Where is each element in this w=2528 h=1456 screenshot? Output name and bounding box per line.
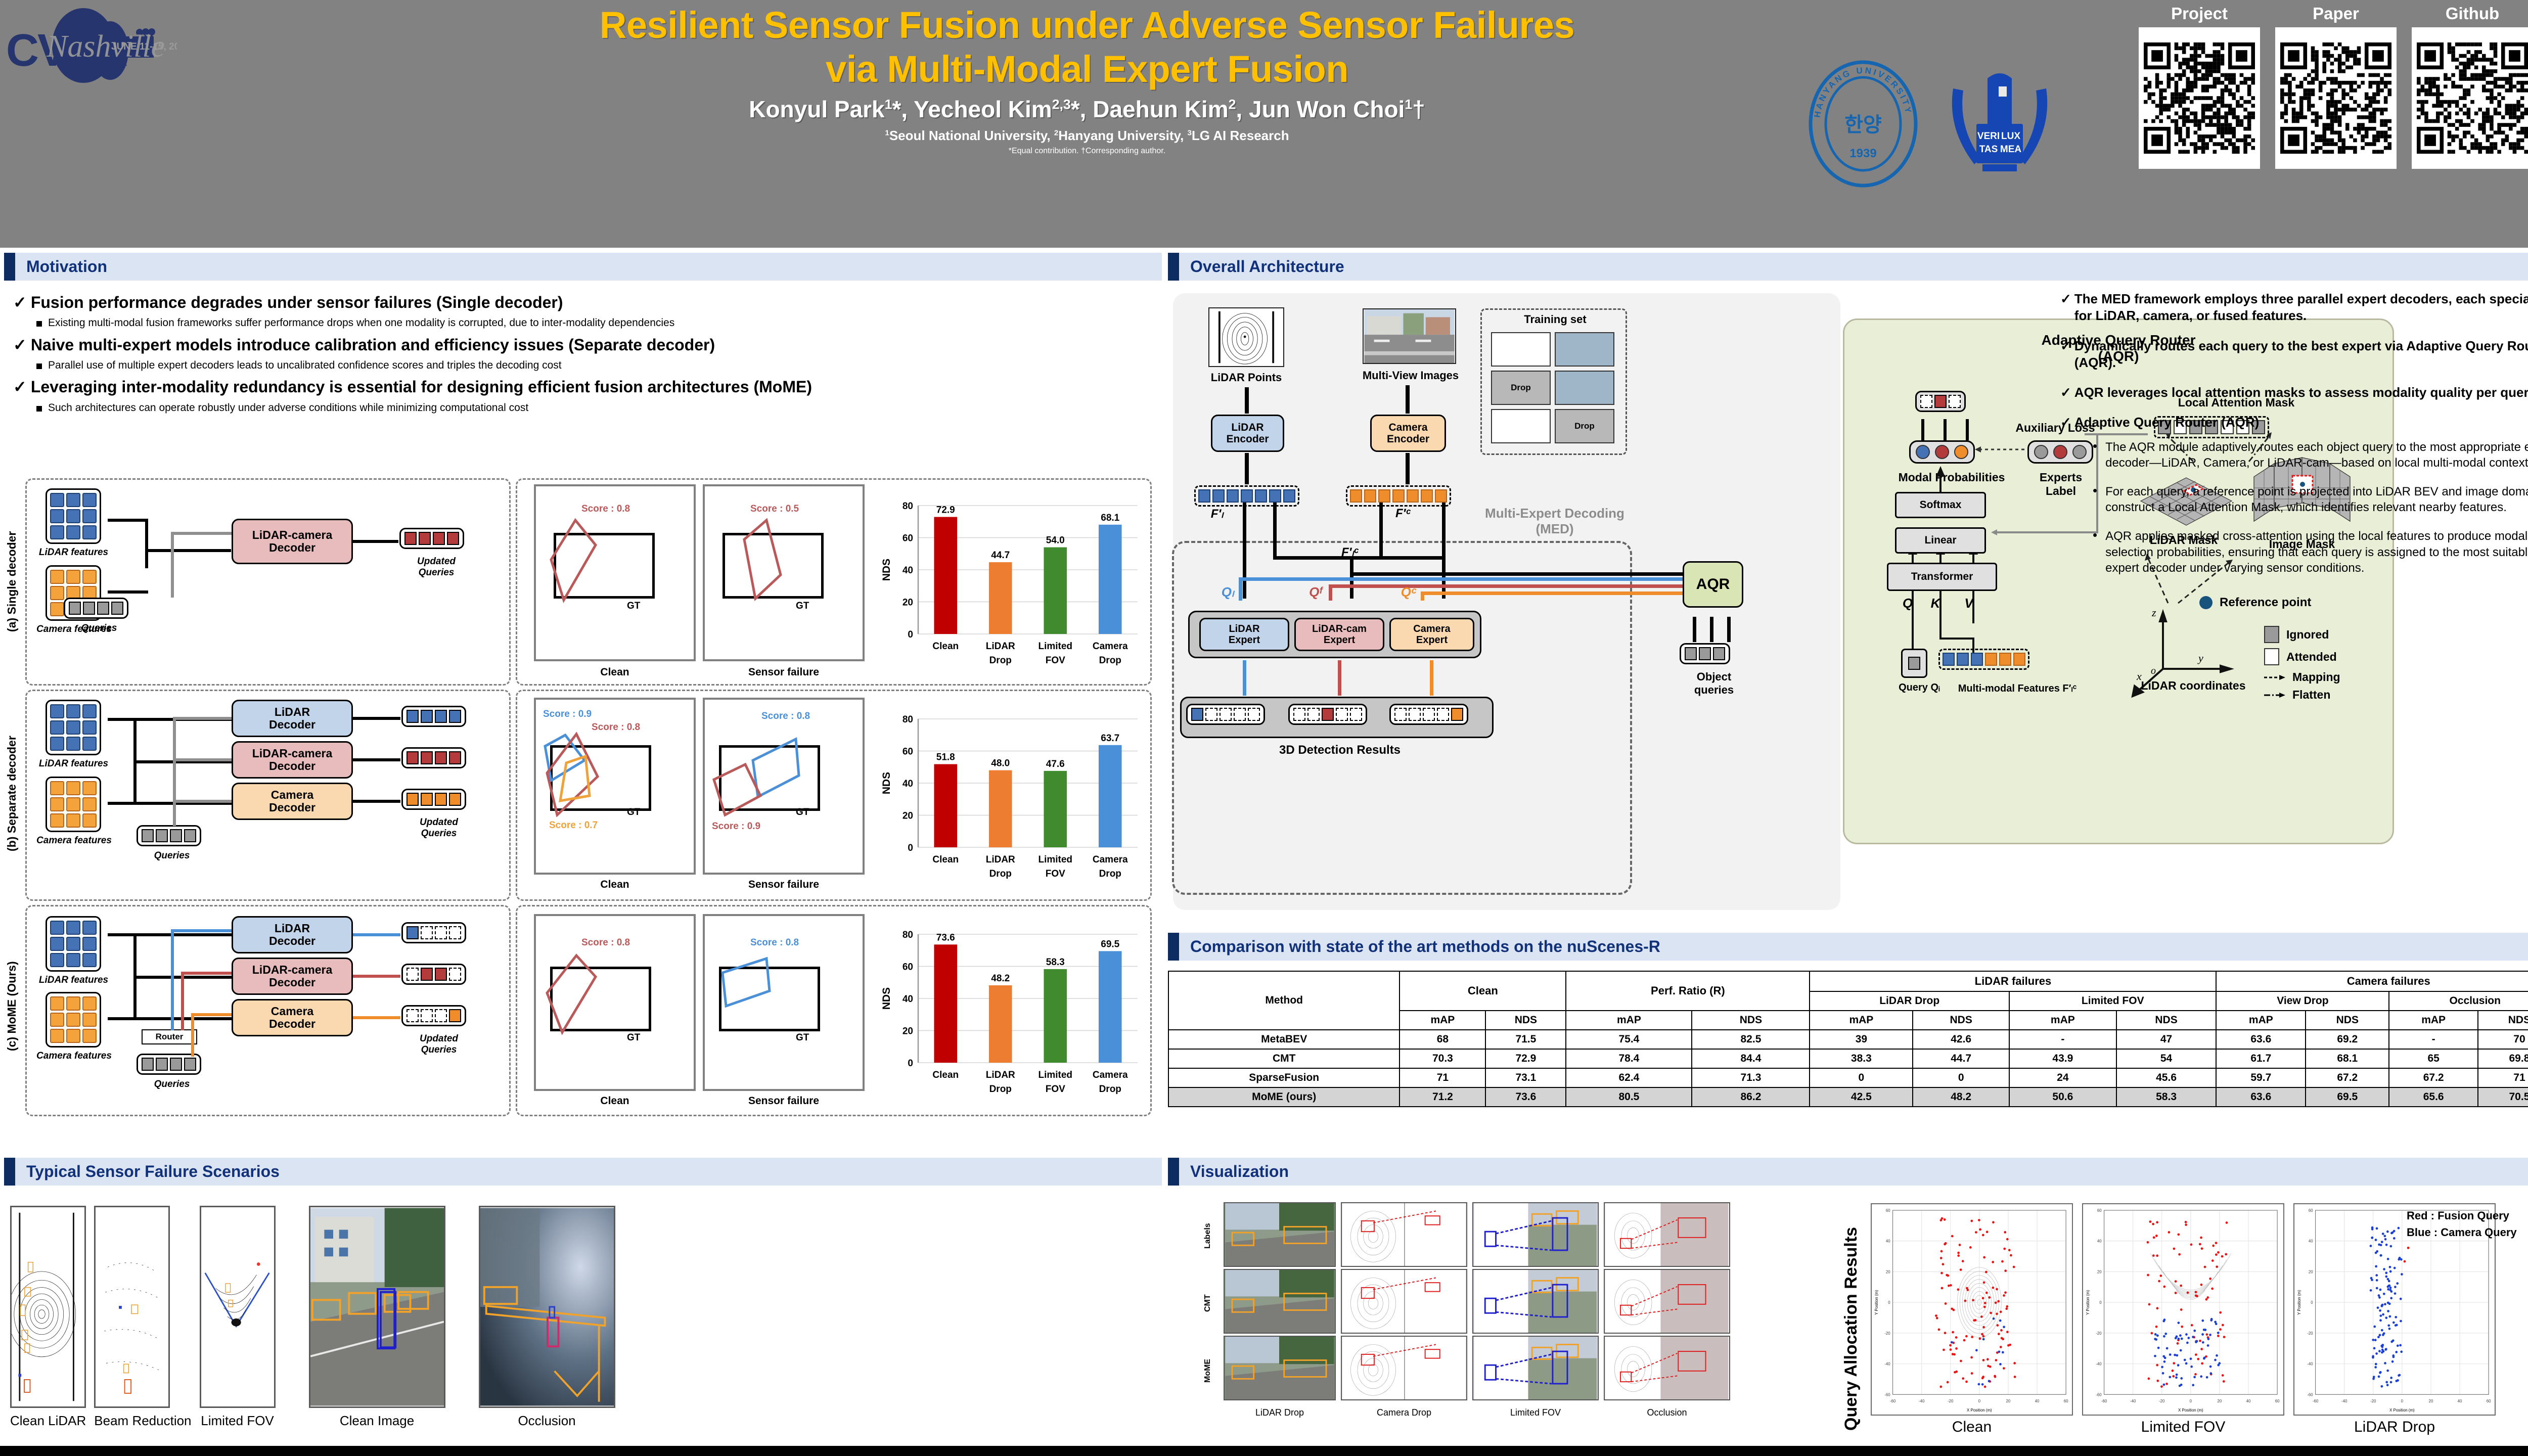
- svg-text:FOV: FOV: [1046, 869, 1065, 879]
- cell-value: 48.2: [1913, 1087, 2009, 1107]
- cell-value: 0: [1810, 1068, 1913, 1087]
- svg-text:JUNE 11-15, 2025: JUNE 11-15, 2025: [111, 41, 177, 52]
- svg-text:20: 20: [902, 598, 913, 608]
- motivation-item-sub: Parallel use of multiple expert decoders…: [36, 359, 1162, 372]
- th-lidar-failures: LiDAR failures: [1810, 971, 2216, 991]
- bar-chart-single-decoder: 02040608072.9Clean44.7LiDARDrop54.0Limit…: [879, 488, 1142, 680]
- cell-value: 63.6: [2216, 1030, 2306, 1049]
- th-occlusion: Occlusion: [2389, 991, 2528, 1011]
- object-query-cube: [1685, 647, 1697, 660]
- feature-token: [1364, 489, 1376, 503]
- check-icon: ✓: [13, 293, 27, 312]
- qr-item-paper[interactable]: Paper: [2275, 4, 2397, 169]
- predicted-box-polygons: [536, 700, 698, 877]
- qr-code-group: Project Paper Github: [2139, 4, 2528, 169]
- probability-dot-lidar: [1916, 445, 1930, 459]
- query-cube: [97, 602, 109, 615]
- motivation-sub-text: Parallel use of multiple expert decoders…: [48, 359, 562, 372]
- motivation-item-sub: Existing multi-modal fusion frameworks s…: [36, 316, 1162, 330]
- svg-text:Y Position (m): Y Position (m): [1874, 1290, 1879, 1315]
- svg-text:-60: -60: [2307, 1392, 2313, 1397]
- cell-value: 45.6: [2116, 1068, 2217, 1087]
- svg-text:20: 20: [2006, 1399, 2011, 1403]
- svg-text:60: 60: [2487, 1399, 2491, 1403]
- svg-text:o: o: [2151, 665, 2156, 676]
- motivation-item-heading: ✓ Fusion performance degrades under sens…: [13, 293, 1162, 312]
- updated-query-cube: [435, 710, 447, 723]
- th-metric: NDS: [1485, 1011, 1566, 1030]
- updated-query-cube: [449, 751, 461, 764]
- svg-text:80: 80: [902, 714, 913, 725]
- cell-value: 68.1: [2306, 1049, 2389, 1068]
- scenario-caption: Clean LiDAR: [10, 1413, 86, 1429]
- query-cube: [170, 1058, 182, 1071]
- section-tick: [1168, 933, 1179, 961]
- expert-dot: [2034, 445, 2048, 459]
- keypoint-text: AQR leverages local attention masks to a…: [2074, 384, 2528, 401]
- poster-title-line1: Resilient Sensor Fusion under Adverse Se…: [435, 3, 1739, 47]
- updated-queries-label-b: UpdatedQueries: [393, 817, 484, 839]
- feature-token: [1227, 489, 1239, 503]
- motivation-heading-text: Leveraging inter-modality redundancy is …: [31, 377, 812, 396]
- updated-query-cube: [433, 532, 445, 545]
- lidar-feature-symbol: F′ₗ: [1194, 507, 1240, 521]
- queries-label: Queries: [64, 623, 134, 634]
- visualization-cell: [1472, 1269, 1599, 1334]
- panel-caption-clean: Clean: [534, 666, 696, 678]
- qr-code-github[interactable]: [2412, 27, 2528, 169]
- score-label: Score : 0.7: [549, 820, 598, 831]
- scenario-caption: Occlusion: [479, 1413, 615, 1429]
- lidar-points-thumbnail: [1208, 307, 1284, 367]
- panel-caption-failure: Sensor failure: [703, 1095, 865, 1107]
- svg-text:68.1: 68.1: [1101, 513, 1119, 523]
- legend-flatten: Flatten: [2292, 688, 2330, 702]
- cell-value: 70.5: [2478, 1087, 2528, 1107]
- result-cube: [1451, 708, 1463, 721]
- dot-bullet-icon: •: [2093, 528, 2097, 576]
- updated-query-cube: [421, 968, 433, 981]
- result-cube: [1307, 708, 1320, 721]
- feature-token: [1198, 489, 1210, 503]
- key-points-column: ✓ The MED framework employs three parall…: [2060, 291, 2528, 589]
- scatter-clean: -60-40-200204060-60-40-200204060X Positi…: [1871, 1203, 2073, 1416]
- th-perf-ratio: Perf. Ratio (R): [1566, 971, 1810, 1011]
- updated-query-cube: [407, 793, 419, 806]
- svg-text:40: 40: [902, 565, 913, 576]
- svg-text:40: 40: [2246, 1399, 2251, 1403]
- feature-token: [1957, 653, 1969, 666]
- th-metric: mAP: [1810, 1011, 1913, 1030]
- cvpr-logo: CVPR Nashville JUNE 11-15, 2025: [5, 6, 177, 84]
- training-set-box: Training set Drop Drop: [1480, 308, 1627, 455]
- svg-text:Drop: Drop: [1099, 1084, 1121, 1095]
- check-icon: ✓: [2060, 291, 2071, 325]
- camera-decoder-c: CameraDecoder: [232, 999, 353, 1036]
- section-title-visualization: Visualization: [1190, 1162, 1289, 1181]
- cell-value: 71: [1400, 1068, 1485, 1087]
- queries-bar: [137, 1054, 201, 1075]
- poster-title-line2: via Multi-Modal Expert Fusion: [435, 47, 1739, 91]
- scenario-item-limited-fov: Limited FOV: [200, 1206, 276, 1429]
- multimodal-features-label: Multi-modal Features F′ₗᶜ: [1942, 682, 2093, 695]
- updated-query-cube: [407, 968, 419, 981]
- th-camera-failures: Camera failures: [2216, 971, 2528, 991]
- feature-token: [1392, 489, 1405, 503]
- visualization-cell: [1224, 1336, 1336, 1400]
- table-row: MetaBEV6871.575.482.53942.6-4763.669.2-7…: [1168, 1030, 2528, 1049]
- cell-value: 65.6: [2389, 1087, 2477, 1107]
- section-title-scenarios: Typical Sensor Failure Scenarios: [26, 1162, 280, 1181]
- legend-ignored: Ignored: [2286, 628, 2329, 642]
- cell-value: 44.7: [1913, 1049, 2009, 1068]
- svg-text:MEA: MEA: [2000, 144, 2022, 155]
- svg-text:Limited: Limited: [1038, 854, 1072, 865]
- cell-value: 69.2: [2306, 1030, 2389, 1049]
- svg-text:X Position (m): X Position (m): [2178, 1408, 2203, 1413]
- object-queries-label: Objectqueries: [1663, 670, 1765, 697]
- multiview-images-label: Multi-View Images: [1340, 369, 1481, 382]
- queries-label: Queries: [137, 1079, 207, 1090]
- visualization-col-label: Camera Drop: [1341, 1407, 1467, 1418]
- aqr-selected-expert-output: [1915, 391, 1966, 412]
- qr-label-github: Github: [2412, 4, 2528, 23]
- result-cube: [1437, 708, 1449, 721]
- qr-code-paper[interactable]: [2275, 27, 2397, 169]
- lidar-features-grid: [46, 488, 101, 544]
- result-cube: [1220, 708, 1232, 721]
- legend-mapping: Mapping: [2292, 670, 2340, 684]
- svg-text:LiDAR: LiDAR: [986, 1070, 1015, 1080]
- query-cube: [1908, 657, 1920, 670]
- updated-queries-bar-a: [399, 528, 464, 549]
- aqr-multimodal-features: [1938, 649, 2029, 670]
- scenario-item-clean-lidar: Clean LiDAR: [10, 1206, 86, 1429]
- university-logos: 한양 1939 HANYANG UNIVERSITY V: [1754, 15, 2108, 233]
- feature-token: [1378, 489, 1390, 503]
- updated-query-cube: [421, 926, 433, 939]
- qr-item-project[interactable]: Project: [2139, 4, 2260, 169]
- section-comparison: Comparison with state of the art methods…: [1168, 933, 2528, 961]
- svg-text:FOV: FOV: [1046, 655, 1065, 666]
- lidar-features-label: LiDAR features: [19, 975, 128, 986]
- probability-dot-fusion: [1935, 445, 1949, 459]
- section-title-comparison: Comparison with state of the art methods…: [1190, 937, 1660, 956]
- drop-cell: Drop: [1555, 409, 1614, 443]
- feature-token: [1241, 489, 1253, 503]
- cell-value: 71.5: [1485, 1030, 1566, 1049]
- cell-value: 50.6: [2009, 1087, 2116, 1107]
- svg-text:-60: -60: [2313, 1399, 2319, 1403]
- modal-probabilities-label: Modal Probabilities: [1876, 471, 2027, 484]
- legend-fusion-query: Red : Fusion Query: [2407, 1207, 2517, 1224]
- affiliation-list: 1Seoul National University, 2Hanyang Uni…: [435, 128, 1739, 144]
- bar-chart-mome: 02040608073.6Clean48.2LiDARDrop58.3Limit…: [879, 917, 1142, 1109]
- query-cube: [111, 602, 123, 615]
- keypoint-text: Dynamically routes each query to the bes…: [2074, 338, 2528, 372]
- svg-text:Camera: Camera: [1093, 854, 1128, 865]
- keypoint-text: The MED framework employs three parallel…: [2074, 291, 2528, 325]
- cell-value: 62.4: [1566, 1068, 1692, 1087]
- cell-value: 43.9: [2009, 1049, 2116, 1068]
- panel-caption-clean: Clean: [534, 1095, 696, 1107]
- queries-bar: [137, 825, 201, 846]
- softmax-block: Softmax: [1895, 492, 1986, 518]
- th-metric: mAP: [2389, 1011, 2477, 1030]
- svg-text:0: 0: [1888, 1300, 1890, 1305]
- scatter-legend: Red : Fusion Query Blue : Camera Query: [2407, 1207, 2517, 1241]
- svg-text:20: 20: [1886, 1269, 1890, 1274]
- lidar-encoder: LiDAREncoder: [1211, 415, 1284, 452]
- row-label-c: (c) MoME (Ours): [5, 905, 22, 1107]
- scenario-item-beam-reduction: Beam Reduction: [94, 1206, 191, 1429]
- svg-text:-20: -20: [1948, 1399, 1954, 1403]
- section-tick: [1168, 253, 1179, 281]
- svg-text:60: 60: [2064, 1399, 2068, 1403]
- keypoint-bullet: ✓ Adaptive Query Router (AQR): [2060, 414, 2528, 431]
- svg-text:0: 0: [2311, 1300, 2313, 1305]
- updated-query-cube: [449, 793, 461, 806]
- table-header-row-1: Method Clean Perf. Ratio (R) LiDAR failu…: [1168, 971, 2528, 991]
- query-cube: [156, 829, 168, 842]
- svg-text:69.5: 69.5: [1101, 939, 1119, 949]
- cell-value: 39: [1810, 1030, 1913, 1049]
- feature-token: [1435, 489, 1447, 503]
- scatter-caption-limited-fov: Limited FOV: [2082, 1419, 2284, 1436]
- output-cube: [1934, 395, 1947, 408]
- svg-text:48.2: 48.2: [991, 973, 1010, 984]
- cell-value: 73.6: [1485, 1087, 1566, 1107]
- legend-attended: Attended: [2286, 650, 2337, 664]
- scatter-caption-clean: Clean: [1871, 1419, 2073, 1436]
- router-box: Router: [142, 1029, 197, 1044]
- keypoint-text: Adaptive Query Router (AQR): [2074, 414, 2260, 431]
- gt-text: GT: [796, 1032, 809, 1043]
- svg-text:40: 40: [1886, 1239, 1890, 1244]
- query-allocation-results-label: Query Allocation Results: [1841, 1213, 1861, 1431]
- svg-text:0: 0: [908, 629, 913, 640]
- cell-value: 42.6: [1913, 1030, 2009, 1049]
- object-query-cube: [1699, 647, 1711, 660]
- svg-text:20: 20: [902, 1026, 913, 1037]
- svg-text:80: 80: [902, 930, 913, 940]
- svg-text:20: 20: [2309, 1269, 2313, 1274]
- feature-token: [1943, 653, 1955, 666]
- qr-label-paper: Paper: [2275, 4, 2397, 23]
- motivation-heading-text: Fusion performance degrades under sensor…: [31, 293, 563, 312]
- svg-text:40: 40: [902, 779, 913, 789]
- svg-text:60: 60: [902, 533, 913, 544]
- med-label: Multi-Expert Decoding(MED): [1471, 506, 1638, 537]
- cell-value: 67.2: [2306, 1068, 2389, 1087]
- svg-text:-60: -60: [2101, 1399, 2107, 1403]
- output-cube: [1920, 395, 1932, 408]
- updated-queries-fusion-b: [401, 747, 466, 768]
- visualization-cell: [1604, 1336, 1730, 1400]
- feature-token: [1985, 653, 1997, 666]
- cell-value: 42.5: [1810, 1087, 1913, 1107]
- result-cube: [1322, 708, 1334, 721]
- updated-query-cube: [419, 532, 431, 545]
- cell-value: 47: [2116, 1030, 2217, 1049]
- svg-text:0: 0: [2401, 1399, 2404, 1403]
- panel-caption-failure: Sensor failure: [703, 879, 865, 891]
- flatten-arrow-icon: [2264, 691, 2285, 699]
- svg-text:58.3: 58.3: [1046, 957, 1065, 968]
- queries-bar: [64, 598, 128, 619]
- qr-label-project: Project: [2139, 4, 2260, 23]
- result-cube: [1423, 708, 1435, 721]
- feature-token: [1269, 489, 1281, 503]
- svg-text:73.6: 73.6: [936, 932, 955, 943]
- cell-value: 86.2: [1692, 1087, 1810, 1107]
- feature-token: [1212, 489, 1225, 503]
- cell-value: 70.3: [1400, 1049, 1485, 1068]
- updated-query-cube: [435, 793, 447, 806]
- score-panel-b-fail: Score : 0.8 Score : 0.9 GT: [703, 698, 865, 875]
- svg-text:Drop: Drop: [989, 655, 1012, 666]
- svg-text:0: 0: [2099, 1300, 2102, 1305]
- svg-text:0: 0: [2190, 1399, 2192, 1403]
- cell-value: 84.4: [1692, 1049, 1810, 1068]
- updated-query-cube: [407, 710, 419, 723]
- updated-query-cube: [407, 1009, 419, 1022]
- cell-value: 75.4: [1566, 1030, 1692, 1049]
- motivation-sub-text: Existing multi-modal fusion frameworks s…: [48, 316, 674, 330]
- query-cube: [170, 829, 182, 842]
- probability-dot-camera: [1954, 445, 1968, 459]
- cell-method: MoME (ours): [1168, 1087, 1400, 1107]
- svg-text:60: 60: [2097, 1208, 2102, 1213]
- result-cube: [1205, 708, 1217, 721]
- author-footnote: *Equal contribution. †Corresponding auth…: [435, 147, 1739, 156]
- cell-value: 70: [2478, 1030, 2528, 1049]
- svg-text:47.6: 47.6: [1046, 759, 1065, 769]
- result-cube: [1234, 708, 1246, 721]
- svg-text:20: 20: [2429, 1399, 2433, 1403]
- cell-value: 72.9: [1485, 1049, 1566, 1068]
- mapping-arrow-icon: [2264, 673, 2285, 681]
- visualization-cell: [1472, 1336, 1599, 1400]
- cell-value: -: [2389, 1030, 2477, 1049]
- scenario-caption: Limited FOV: [200, 1413, 276, 1429]
- subbullet-text: For each query, a reference point is pro…: [2105, 484, 2528, 515]
- table-row: CMT70.372.978.484.438.344.743.95461.768.…: [1168, 1049, 2528, 1068]
- th-clean: Clean: [1400, 971, 1566, 1011]
- motivation-heading-text: Naive multi-expert models introduce cali…: [31, 335, 715, 354]
- drop-cell: Drop: [1491, 371, 1551, 405]
- qr-item-github[interactable]: Github: [2412, 4, 2528, 169]
- title-block: Resilient Sensor Fusion under Adverse Se…: [435, 3, 1739, 156]
- result-cube: [1350, 708, 1362, 721]
- lidar-features-label: LiDAR features: [19, 758, 128, 769]
- scatter-caption-lidar-drop: LiDAR Drop: [2293, 1419, 2496, 1436]
- updated-query-cube: [449, 710, 461, 723]
- aqr-node: AQR: [1683, 561, 1743, 608]
- svg-text:NDS: NDS: [881, 772, 892, 794]
- updated-query-cube: [447, 532, 459, 545]
- svg-text:-20: -20: [2159, 1399, 2165, 1403]
- feature-token: [1421, 489, 1433, 503]
- visualization-grid: LabelsCMTMoMELiDAR DropCamera DropLimite…: [1203, 1202, 1730, 1418]
- visualization-cell: [1341, 1269, 1467, 1334]
- predicted-box-polygon: [536, 486, 698, 663]
- cell-value: 71.2: [1400, 1087, 1485, 1107]
- svg-text:X Position (m): X Position (m): [2389, 1408, 2415, 1413]
- section-visualization: Visualization: [1168, 1158, 2528, 1186]
- check-icon: ✓: [2060, 338, 2071, 372]
- visualization-row-label: CMT: [1203, 1271, 1224, 1336]
- feature-token: [1255, 489, 1267, 503]
- score-panel-b-clean: Score : 0.9 Score : 0.8 Score : 0.7 GT: [534, 698, 696, 875]
- section-architecture: Overall Architecture: [1168, 253, 2528, 281]
- lidar-expert: LiDARExpert: [1199, 618, 1289, 651]
- transformer-block: Transformer: [1887, 563, 1997, 591]
- svg-text:40: 40: [2035, 1399, 2040, 1403]
- scatter-limited-fov: -60-40-200204060-60-40-200204060X Positi…: [2082, 1203, 2284, 1416]
- scenario-row: Clean LiDAR Beam Reduction: [10, 1206, 615, 1429]
- ignored-swatch-icon: [2264, 626, 2279, 643]
- cell-value: 82.5: [1692, 1030, 1810, 1049]
- qr-code-project[interactable]: [2139, 27, 2260, 169]
- th-metric: mAP: [2216, 1011, 2306, 1030]
- camera-feature-symbol: F′ᶜ: [1380, 507, 1426, 521]
- svg-text:44.7: 44.7: [991, 550, 1010, 561]
- svg-text:0: 0: [908, 1058, 913, 1069]
- snu-logo: VERILUX TASMEA: [1939, 58, 2060, 190]
- svg-text:Clean: Clean: [932, 854, 959, 865]
- check-icon: ✓: [2060, 384, 2071, 401]
- scenario-item-clean-image: Clean Image: [309, 1206, 445, 1429]
- svg-text:Drop: Drop: [989, 1084, 1012, 1095]
- section-tick: [1168, 1158, 1179, 1186]
- svg-text:72.9: 72.9: [936, 505, 955, 516]
- query-cube: [142, 1058, 154, 1071]
- svg-text:0: 0: [908, 843, 913, 853]
- feature-token: [2013, 653, 2025, 666]
- th-metric: mAP: [2009, 1011, 2116, 1030]
- th-metric: NDS: [2306, 1011, 2389, 1030]
- svg-text:-40: -40: [2130, 1399, 2136, 1403]
- svg-text:-60: -60: [1884, 1392, 1890, 1397]
- cell-value: 65: [2389, 1049, 2477, 1068]
- query-cube: [83, 602, 95, 615]
- cell-value: 0: [1913, 1068, 2009, 1087]
- svg-text:80: 80: [902, 501, 913, 512]
- section-tick: [4, 1158, 15, 1186]
- svg-text:Camera: Camera: [1093, 641, 1128, 652]
- check-icon: ✓: [13, 377, 27, 396]
- cell-value: 63.6: [2216, 1087, 2306, 1107]
- svg-text:-20: -20: [1884, 1331, 1890, 1336]
- keypoint-bullet: ✓ The MED framework employs three parall…: [2060, 291, 2528, 325]
- svg-text:48.0: 48.0: [991, 758, 1010, 769]
- table-row: MoME (ours)71.273.680.586.242.548.250.65…: [1168, 1087, 2528, 1107]
- svg-text:-40: -40: [2096, 1362, 2102, 1367]
- camera-decoder-b: CameraDecoder: [232, 783, 353, 820]
- visualization-cell: [1341, 1336, 1467, 1400]
- gt-text: GT: [796, 807, 809, 818]
- legend-camera-query: Blue : Camera Query: [2407, 1224, 2517, 1241]
- result-cube: [1336, 708, 1348, 721]
- subbullet-text: AQR applies masked cross-attention using…: [2105, 528, 2528, 576]
- svg-text:40: 40: [902, 994, 913, 1005]
- motivation-item-heading: ✓ Naive multi-expert models introduce ca…: [13, 335, 1162, 354]
- svg-text:-20: -20: [2096, 1331, 2102, 1336]
- object-queries-bar: [1680, 643, 1730, 664]
- cell-value: 71: [2478, 1068, 2528, 1087]
- lidar-decoder-b: LiDARDecoder: [232, 700, 353, 737]
